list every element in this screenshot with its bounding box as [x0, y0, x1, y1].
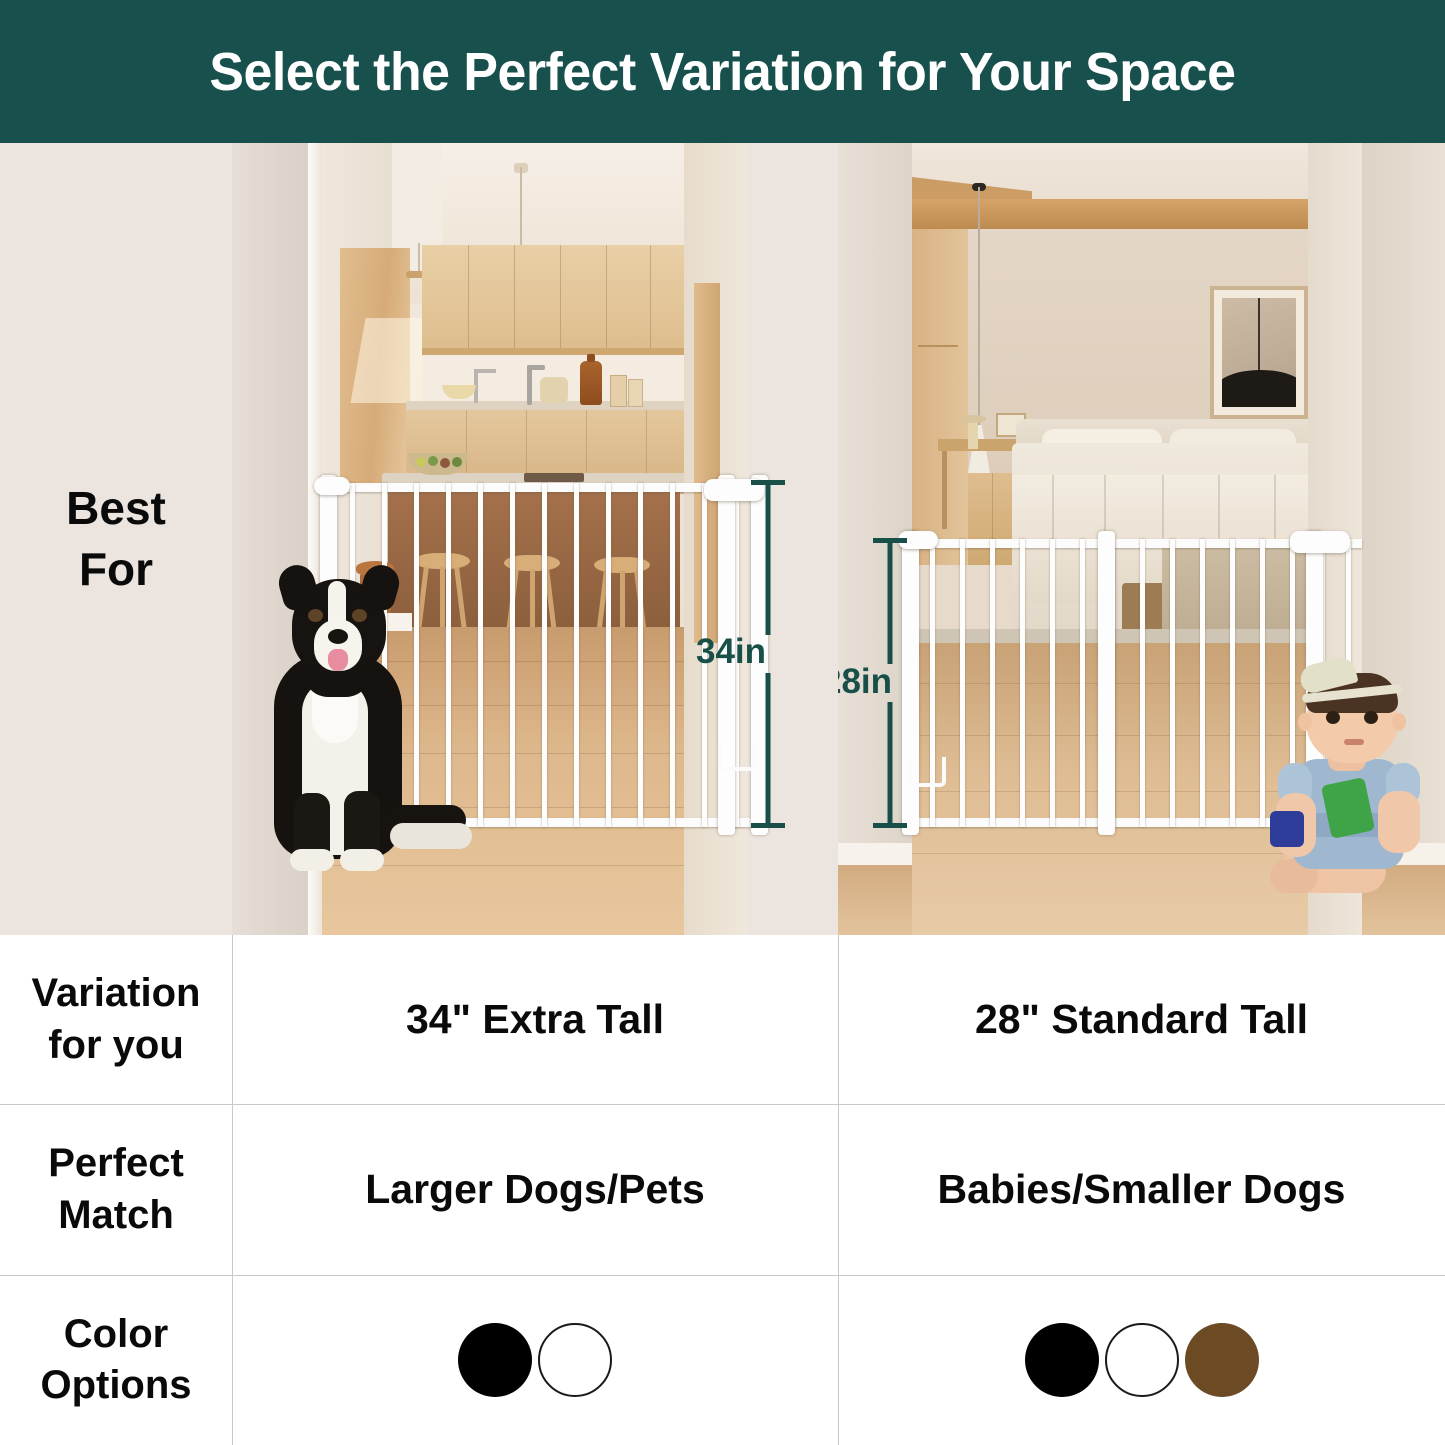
header-banner: Select the Perfect Variation for Your Sp…	[0, 0, 1445, 143]
row-label-line2: Match	[48, 1190, 184, 1241]
row-label-line2: Options	[40, 1360, 191, 1411]
gate-post-mid	[1098, 531, 1115, 835]
wood-cutting-board	[580, 361, 602, 405]
faucet-main	[527, 365, 532, 405]
color-swatches-left	[458, 1323, 612, 1397]
row-label-perfect-match: Perfect Match	[0, 1104, 232, 1275]
blue-toy-block	[1270, 811, 1304, 847]
color-swatch-black[interactable]	[1025, 1323, 1099, 1397]
variation-right-value: 28" Standard Tall	[975, 996, 1308, 1043]
comparison-table: Variation for you 34" Extra Tall 28" Sta…	[0, 935, 1445, 1445]
artwork-vertical-line	[1258, 298, 1260, 407]
color-swatch-brown[interactable]	[1185, 1323, 1259, 1397]
color-swatch-white[interactable]	[538, 1323, 612, 1397]
column-divider-left	[232, 935, 233, 1445]
dimension-34in: 34in	[732, 480, 804, 828]
match-left-value: Larger Dogs/Pets	[365, 1166, 705, 1213]
best-for-label: Best For	[0, 143, 232, 935]
cell-variation-left: 34" Extra Tall	[232, 935, 838, 1104]
gate-latch-handle[interactable]	[1290, 531, 1350, 553]
color-swatch-white[interactable]	[1105, 1323, 1179, 1397]
best-for-line2: For	[79, 539, 153, 600]
gate-top-bracket	[314, 477, 350, 495]
nightstand-leg	[942, 451, 947, 529]
column-divider-right	[838, 935, 839, 1445]
best-for-line1: Best	[66, 478, 166, 539]
table-row-color-options: Color Options	[0, 1275, 1445, 1445]
cell-colors-left	[232, 1275, 838, 1445]
table-lamp-stem	[968, 423, 978, 449]
cell-match-left: Larger Dogs/Pets	[232, 1104, 838, 1275]
table-row-perfect-match: Perfect Match Larger Dogs/Pets Babies/Sm…	[0, 1104, 1445, 1275]
row-label-line1: Color	[40, 1309, 191, 1360]
bedroom-left-baseboard	[838, 843, 912, 865]
match-right-value: Babies/Smaller Dogs	[938, 1166, 1346, 1213]
island-sink	[524, 473, 584, 482]
pendant-cord	[978, 187, 980, 427]
cell-colors-right	[838, 1275, 1445, 1445]
row-label-line1: Perfect	[48, 1138, 184, 1189]
bedroom-left-floor	[838, 865, 912, 935]
storage-jar-2	[628, 379, 643, 407]
left-scene-kitchen: 34in	[232, 143, 838, 935]
border-collie-dog	[240, 561, 470, 891]
dimension-34in-label: 34in	[696, 632, 766, 672]
right-scene-bedroom: 28in	[838, 143, 1445, 935]
bedroom-wood-closet	[912, 229, 968, 565]
dimension-28in-label: 28in	[838, 662, 892, 702]
comparison-infographic: Select the Perfect Variation for Your Sp…	[0, 0, 1445, 1445]
closet-reveal-line	[918, 345, 958, 347]
baby-with-toy-blocks	[1270, 663, 1445, 935]
artwork-image	[1222, 298, 1296, 407]
row-divider-2	[0, 1275, 1445, 1276]
faucet-main-spout	[527, 365, 545, 370]
framed-artwork	[1210, 286, 1308, 419]
color-swatches-right	[1025, 1323, 1259, 1397]
kettle	[540, 377, 568, 403]
dimension-28in: 28in	[854, 538, 926, 828]
hero-photo-band: Best For	[0, 143, 1445, 935]
color-swatch-black[interactable]	[458, 1323, 532, 1397]
table-lamp-shade	[960, 415, 986, 423]
cell-match-right: Babies/Smaller Dogs	[838, 1104, 1445, 1275]
variation-left-value: 34" Extra Tall	[406, 996, 664, 1043]
row-label-line2: for you	[32, 1020, 201, 1071]
row-label-color-options: Color Options	[0, 1275, 232, 1445]
upper-cabinets	[422, 245, 692, 351]
table-row-variation: Variation for you 34" Extra Tall 28" Sta…	[0, 935, 1445, 1104]
faucet-secondary-spout	[474, 369, 496, 373]
row-divider-1	[0, 1104, 1445, 1105]
row-label-line1: Variation	[32, 968, 201, 1019]
page-title: Select the Perfect Variation for Your Sp…	[209, 41, 1235, 103]
row-label-variation: Variation for you	[0, 935, 232, 1104]
cell-variation-right: 28" Standard Tall	[838, 935, 1445, 1104]
storage-jar-1	[610, 375, 627, 407]
pendant-cord-2	[418, 243, 420, 273]
cabinet-shelf	[422, 348, 694, 355]
